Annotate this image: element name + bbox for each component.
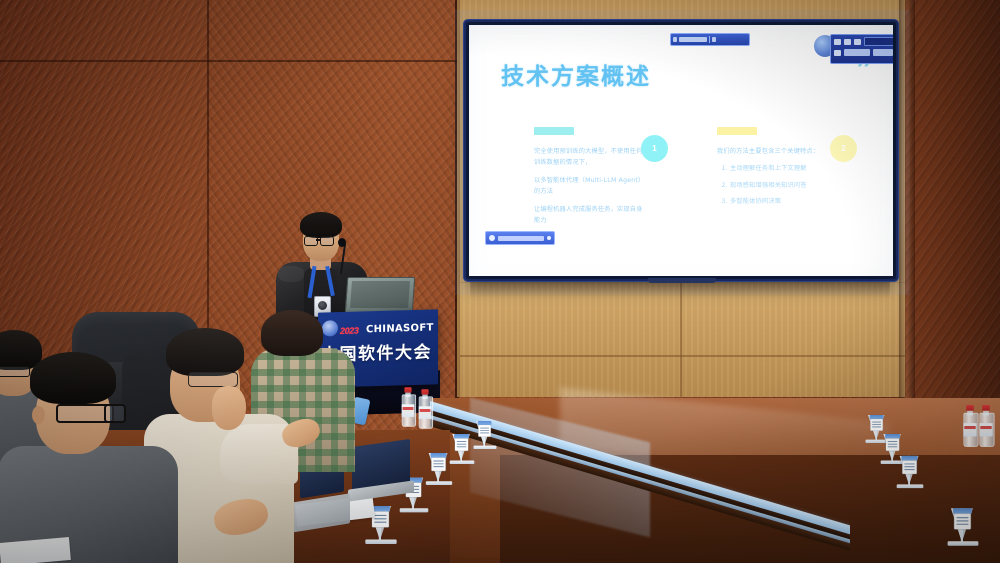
water-bottle <box>402 387 415 427</box>
attendee-foreground-glasses-temple <box>104 404 126 423</box>
bottle-cap <box>982 405 990 411</box>
name-card-base <box>897 484 924 488</box>
column-1-tag-bar <box>534 127 574 135</box>
name-card-base <box>450 460 475 464</box>
slide-column-2: 我们的方法主要包含三个关键特点： 主动理解任务和上下文理解 现场感知增强相关知识… <box>717 127 829 213</box>
toolbar-divider <box>709 36 710 43</box>
laptop-screen <box>350 281 410 308</box>
attendee-foreground-hair <box>30 352 116 404</box>
bottle-cap <box>421 389 428 394</box>
maximize-icon[interactable] <box>844 39 851 45</box>
slide-canvas: 技术方案概述 ❞ 完全使用预训练的大模型，不使用任何训练数据的情况下， 以多智能… <box>469 25 893 276</box>
column-2-list: 主动理解任务和上下文理解 现场感知增强相关知识问答 多智能体协同决策 <box>717 163 829 207</box>
bottle-cap <box>966 405 974 411</box>
name-card-base <box>948 541 979 545</box>
badge-label <box>498 236 544 241</box>
name-card-holder <box>473 421 498 449</box>
microphone-icon <box>338 238 346 247</box>
name-card-label <box>902 461 916 474</box>
minimize-icon[interactable] <box>834 39 841 45</box>
column-2-tag-bar <box>717 127 757 135</box>
presenter-shoulder-highlight <box>278 266 304 282</box>
name-card-base <box>400 508 429 512</box>
column-1-body: 完全使用预训练的大模型，不使用任何训练数据的情况下， 以多智能体代理（Multi… <box>534 146 646 227</box>
name-card-holder <box>947 508 980 545</box>
name-card-label <box>870 419 882 430</box>
name-card-label <box>431 458 445 471</box>
water-bottle <box>419 389 432 429</box>
slide-bottom-left-badge[interactable] <box>485 231 555 245</box>
column-2-para-1: 我们的方法主要包含三个关键特点： <box>717 146 829 157</box>
column-1-marker: 1 <box>641 135 668 162</box>
window-tag-1[interactable] <box>844 49 870 56</box>
close-icon[interactable] <box>854 39 861 45</box>
water-bottle <box>979 405 992 447</box>
presenter-glasses-left <box>304 236 318 246</box>
column-1-para-2: 以多智能体代理（Multi-LLM Agent）的方法 <box>534 175 646 198</box>
name-card-label <box>954 514 971 529</box>
name-card-label <box>886 438 899 450</box>
column-2-marker: 2 <box>830 135 857 162</box>
name-card-base <box>474 446 497 449</box>
column-2-item-1: 主动理解任务和上下文理解 <box>730 163 829 174</box>
badge-caret-icon[interactable] <box>547 236 551 240</box>
window-action-icon[interactable] <box>834 50 841 56</box>
bottle-label <box>963 423 976 436</box>
tan-wall-seam-bottom <box>460 355 905 357</box>
name-card-holder <box>896 456 925 488</box>
presentation-display[interactable]: 技术方案概述 ❞ 完全使用预训练的大模型，不使用任何训练数据的情况下， 以多智能… <box>466 22 896 279</box>
toolbar-pin-icon[interactable] <box>712 37 716 42</box>
banner-english-title: CHINASOFT <box>366 322 434 335</box>
floating-control-window[interactable] <box>830 34 893 64</box>
column-2-item-3: 多智能体协同决策 <box>730 196 829 207</box>
app-icon <box>489 235 495 241</box>
slide-column-1: 完全使用预训练的大模型，不使用任何训练数据的情况下， 以多智能体代理（Multi… <box>534 127 646 233</box>
attendee-foreground <box>16 352 166 563</box>
window-field[interactable] <box>864 37 893 46</box>
attendee-cream-glasses <box>188 372 238 387</box>
column-2-body: 我们的方法主要包含三个关键特点： 主动理解任务和上下文理解 现场感知增强相关知识… <box>717 146 829 208</box>
attendee-foreground-ear <box>32 406 45 424</box>
toolbar-label <box>679 37 707 42</box>
window-tag-2[interactable] <box>873 49 893 56</box>
conference-room-scene: 技术方案概述 ❞ 完全使用预训练的大模型，不使用任何训练数据的情况下， 以多智能… <box>0 0 1000 563</box>
laptop-lid <box>345 277 416 313</box>
window-title-row <box>831 35 893 48</box>
tan-wall-seam-left <box>457 0 460 397</box>
toolbar-icon[interactable] <box>673 37 677 42</box>
column-1-para-1: 完全使用预训练的大模型，不使用任何训练数据的情况下， <box>534 146 646 169</box>
attendee-cream-hand <box>212 386 246 430</box>
table-edge-group <box>430 392 850 562</box>
bottle-cap <box>404 387 411 392</box>
water-bottle <box>963 405 976 447</box>
bottle-label <box>402 404 415 417</box>
column-1-para-3: 让编程机器人完成服务任务，实现自身能力 <box>534 204 646 227</box>
display-stand <box>648 278 716 283</box>
name-card-base <box>426 481 452 485</box>
presenter-glasses-bridge <box>316 239 320 241</box>
name-card-label <box>478 425 490 436</box>
presenter-glasses-right <box>320 236 334 246</box>
bottle-label <box>979 423 992 436</box>
screen-share-toolbar[interactable] <box>670 33 750 46</box>
slide-title: 技术方案概述 <box>501 57 651 91</box>
attendee-cream-hair <box>166 328 244 376</box>
bottle-label <box>419 406 432 419</box>
name-card-base <box>365 540 396 544</box>
column-2-item-2: 现场感知增强相关知识问答 <box>730 180 829 191</box>
window-toolbar-row <box>831 48 893 57</box>
name-card-label <box>455 438 468 450</box>
presenter-hair <box>300 212 342 238</box>
